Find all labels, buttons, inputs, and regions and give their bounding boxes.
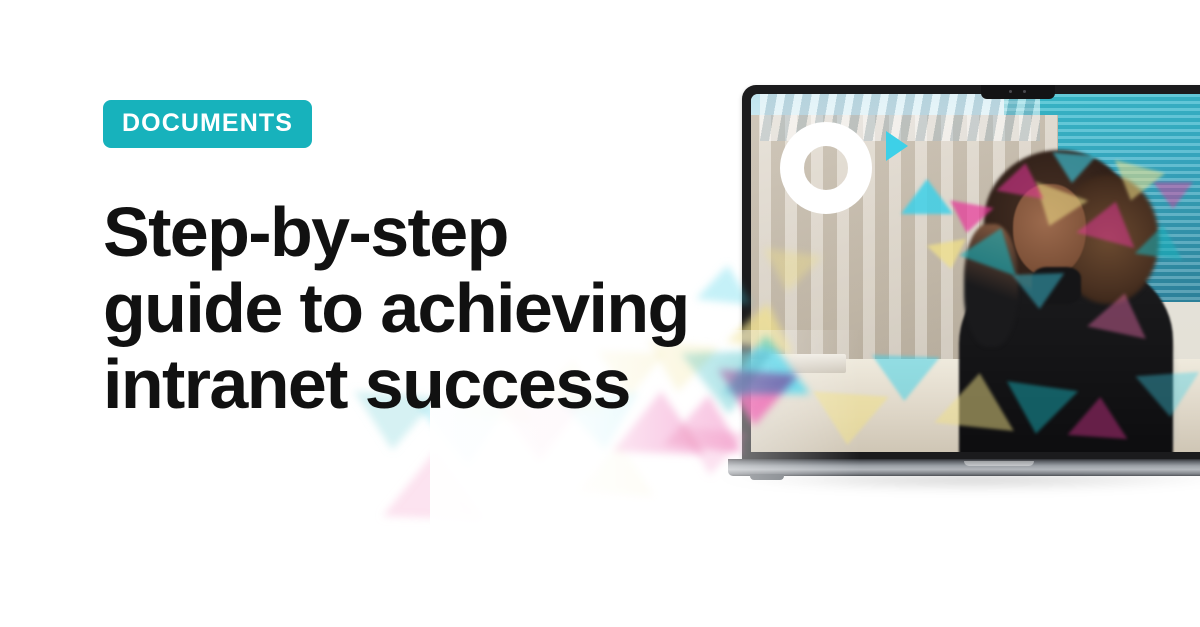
bottom-fade-veil bbox=[430, 507, 1200, 627]
confetti-triangle bbox=[383, 446, 485, 519]
camera-sensor-icon bbox=[1023, 90, 1026, 93]
laptop-camera-notch bbox=[981, 85, 1055, 99]
woman-arm bbox=[964, 224, 1018, 347]
laptop-shadow bbox=[716, 475, 1200, 491]
woman-neck bbox=[1032, 267, 1081, 304]
woman-face bbox=[1013, 184, 1086, 276]
promo-banner: DOCUMENTS Step-by-step guide to achievin… bbox=[0, 0, 1200, 627]
photo-woman bbox=[949, 144, 1193, 452]
text-column: DOCUMENTS Step-by-step guide to achievin… bbox=[103, 100, 763, 422]
camera-dot-icon bbox=[1009, 90, 1012, 93]
headline-line-2: guide to achieving bbox=[103, 270, 763, 346]
page-title: Step-by-step guide to achieving intranet… bbox=[103, 194, 763, 422]
photo-bench bbox=[769, 354, 846, 374]
laptop-bezel bbox=[742, 85, 1200, 460]
laptop-base bbox=[728, 459, 1200, 476]
play-triangle-icon[interactable] bbox=[886, 131, 908, 161]
laptop-lip-notch bbox=[964, 461, 1034, 466]
category-badge[interactable]: DOCUMENTS bbox=[103, 100, 312, 148]
headline-line-3: intranet success bbox=[103, 346, 763, 422]
confetti-triangle bbox=[578, 437, 658, 496]
laptop-device bbox=[742, 85, 1200, 470]
ring-logo-icon bbox=[780, 122, 872, 214]
headline-line-1: Step-by-step bbox=[103, 194, 763, 270]
